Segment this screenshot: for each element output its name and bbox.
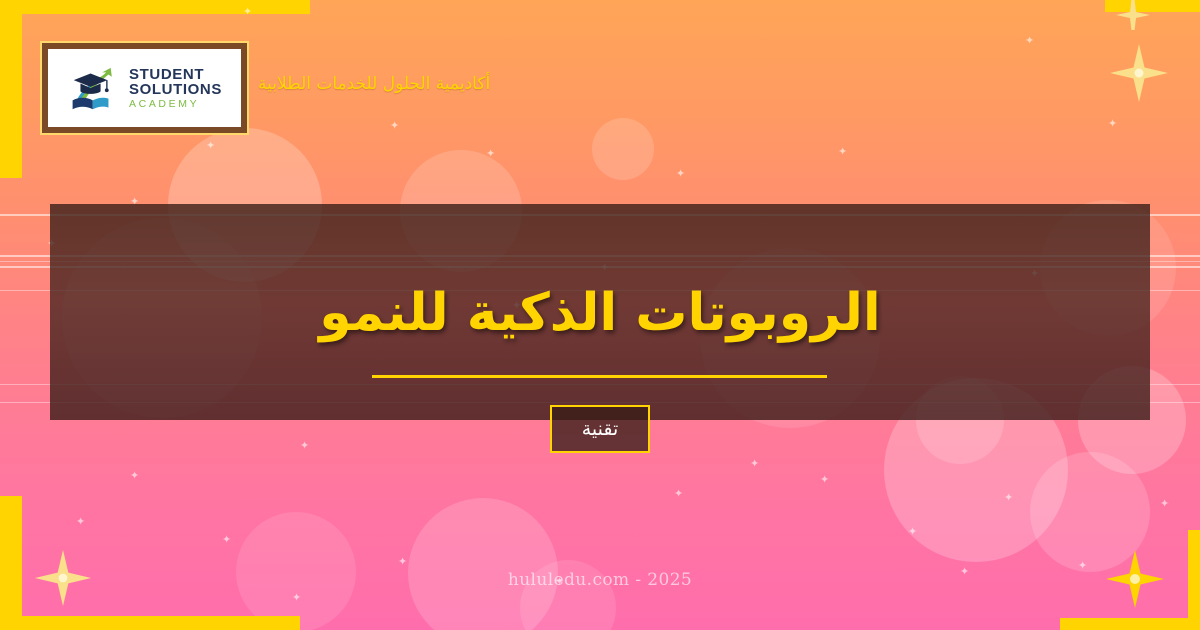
- brand-logo[interactable]: STUDENT SOLUTIONS ACADEMY: [40, 41, 249, 135]
- corner-bracket-bottom-right: [1060, 618, 1200, 630]
- graduation-cap-book-arrow-logo-icon: [67, 60, 123, 116]
- corner-bracket-bottom-left: [0, 616, 300, 630]
- logo-line-1: STUDENT: [129, 67, 222, 82]
- micro-sparkle-icon: ✦: [838, 146, 847, 157]
- micro-sparkle-icon: ✦: [130, 470, 139, 481]
- title-underline: [372, 375, 827, 378]
- micro-sparkle-icon: ✦: [750, 458, 759, 469]
- corner-bracket-top-left: [0, 0, 22, 178]
- micro-sparkle-icon: ✦: [292, 592, 301, 603]
- corner-bracket-top-right: [1105, 0, 1200, 12]
- micro-sparkle-icon: ✦: [486, 148, 495, 159]
- bokeh-circle: [408, 498, 558, 630]
- micro-sparkle-icon: ✦: [908, 526, 917, 537]
- bokeh-circle: [592, 118, 654, 180]
- category-badge[interactable]: تقنية: [550, 405, 650, 453]
- social-share-card: ✦ ✦ ✦ ✦ ✦ ✦ ✦ ✦ ✦ ✦ ✦ ✦ ✦ ✦ ✦ ✦ ✦ ✦ ✦ ✦ …: [0, 0, 1200, 630]
- footer-attribution: hululedu.com - 2025: [0, 570, 1200, 590]
- micro-sparkle-icon: ✦: [398, 556, 407, 567]
- micro-sparkle-icon: ✦: [300, 440, 309, 451]
- micro-sparkle-icon: ✦: [206, 140, 215, 151]
- corner-bracket-bottom-left: [0, 496, 22, 630]
- micro-sparkle-icon: ✦: [1004, 492, 1013, 503]
- four-point-sparkle-icon: [1108, 42, 1170, 104]
- logo-line-3: ACADEMY: [129, 99, 222, 110]
- micro-sparkle-icon: ✦: [76, 516, 85, 527]
- micro-sparkle-icon: ✦: [243, 6, 252, 17]
- brand-logo-wordmark: STUDENT SOLUTIONS ACADEMY: [129, 67, 222, 110]
- micro-sparkle-icon: ✦: [1160, 498, 1169, 509]
- micro-sparkle-icon: ✦: [222, 534, 231, 545]
- micro-sparkle-icon: ✦: [1108, 118, 1117, 129]
- micro-sparkle-icon: ✦: [390, 120, 399, 131]
- page-title: الروبوتات الذكية للنمو: [50, 284, 1150, 344]
- micro-sparkle-icon: ✦: [674, 488, 683, 499]
- micro-sparkle-icon: ✦: [676, 168, 685, 179]
- micro-sparkle-icon: ✦: [1025, 35, 1034, 46]
- logo-line-2: SOLUTIONS: [129, 82, 222, 97]
- brand-subtitle: أكاديمية الحلول للخدمات الطلابية: [258, 74, 490, 94]
- brand-logo-inner: STUDENT SOLUTIONS ACADEMY: [48, 49, 241, 127]
- four-point-sparkle-icon: [1116, 0, 1150, 30]
- bokeh-circle: [1030, 452, 1150, 572]
- corner-bracket-top-left: [0, 0, 310, 14]
- micro-sparkle-icon: ✦: [820, 474, 829, 485]
